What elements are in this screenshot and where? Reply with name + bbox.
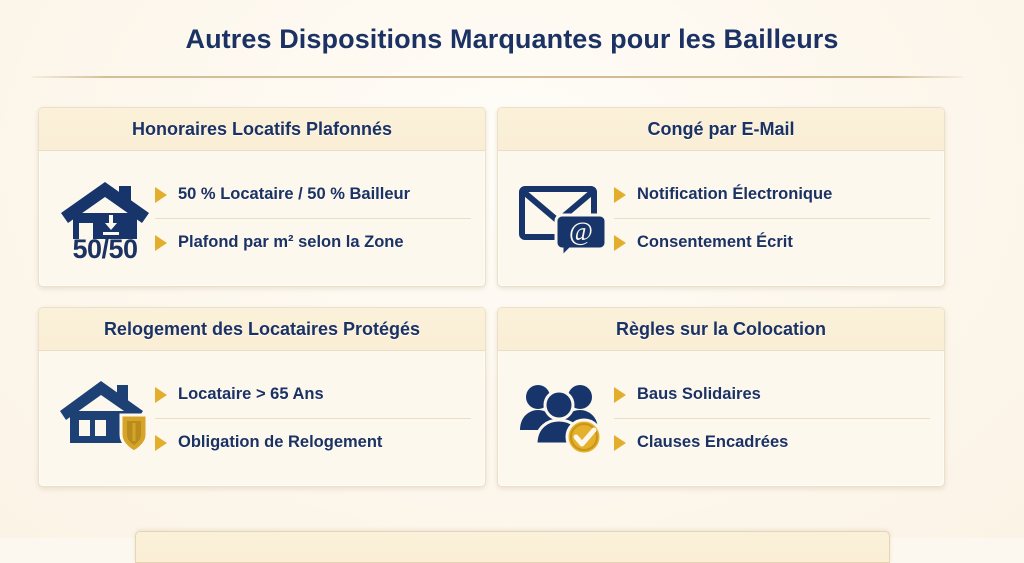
list-item-label: Locataire > 65 Ans	[178, 385, 324, 404]
card-body: Locataire > 65 Ans Obligation de Relogem…	[39, 351, 485, 486]
list-item-label: Consentement Écrit	[637, 233, 793, 252]
list-item[interactable]: Locataire > 65 Ans	[155, 371, 471, 418]
card-header: Congé par E-Mail	[498, 108, 944, 151]
arrow-right-icon	[155, 435, 167, 451]
card-rows: Locataire > 65 Ans Obligation de Relogem…	[155, 371, 471, 466]
people-check-icon	[516, 371, 612, 467]
icon-caption: 50/50	[57, 234, 153, 265]
card-title: Congé par E-Mail	[647, 119, 794, 140]
page-title: Autres Dispositions Marquantes pour les …	[0, 24, 1024, 55]
card-relogement-des-locataires-proteges[interactable]: Relogement des Locataires Protégés	[38, 307, 486, 487]
list-item[interactable]: Plafond par m² selon la Zone	[155, 218, 471, 266]
card-rows: Notification Électronique Consentement É…	[614, 171, 930, 266]
list-item[interactable]: Consentement Écrit	[614, 218, 930, 266]
arrow-right-icon	[155, 235, 167, 251]
list-item-label: 50 % Locataire / 50 % Bailleur	[178, 185, 410, 204]
list-item[interactable]: Obligation de Relogement	[155, 418, 471, 466]
card-title: Relogement des Locataires Protégés	[104, 319, 420, 340]
next-card-partial[interactable]	[135, 531, 890, 563]
list-item[interactable]: Notification Électronique	[614, 171, 930, 218]
list-item-label: Clauses Encadrées	[637, 433, 788, 452]
list-item[interactable]: Baus Solidaires	[614, 371, 930, 418]
card-conge-par-email[interactable]: Congé par E-Mail @ Notification Électron…	[497, 107, 945, 287]
list-item-label: Obligation de Relogement	[178, 433, 382, 452]
svg-text:@: @	[569, 217, 593, 246]
card-body: @ Notification Électronique Consentement…	[498, 151, 944, 286]
page-title-container: Autres Dispositions Marquantes pour les …	[0, 24, 1024, 55]
card-title: Règles sur la Colocation	[616, 319, 826, 340]
list-item[interactable]: 50 % Locataire / 50 % Bailleur	[155, 171, 471, 218]
list-item-label: Plafond par m² selon la Zone	[178, 233, 404, 252]
arrow-right-icon	[614, 187, 626, 203]
house-shield-icon	[57, 371, 153, 467]
list-item[interactable]: Clauses Encadrées	[614, 418, 930, 466]
envelope-at-icon: @	[516, 171, 612, 267]
card-rows: Baus Solidaires Clauses Encadrées	[614, 371, 930, 466]
arrow-right-icon	[614, 387, 626, 403]
list-item-label: Baus Solidaires	[637, 385, 761, 404]
title-divider	[31, 76, 963, 78]
card-header: Honoraires Locatifs Plafonnés	[39, 108, 485, 151]
house-split-icon: 50/50	[57, 171, 153, 267]
card-header: Relogement des Locataires Protégés	[39, 308, 485, 351]
arrow-right-icon	[614, 235, 626, 251]
arrow-right-icon	[155, 187, 167, 203]
card-body: 50/50 50 % Locataire / 50 % Bailleur Pla…	[39, 151, 485, 286]
card-header: Règles sur la Colocation	[498, 308, 944, 351]
card-honoraires-locatifs-plafonnes[interactable]: Honoraires Locatifs Plafonnés	[38, 107, 486, 287]
arrow-right-icon	[614, 435, 626, 451]
arrow-right-icon	[155, 387, 167, 403]
slide-canvas: Autres Dispositions Marquantes pour les …	[0, 0, 1024, 538]
list-item-label: Notification Électronique	[637, 185, 832, 204]
card-regles-sur-la-colocation[interactable]: Règles sur la Colocation	[497, 307, 945, 487]
card-body: Baus Solidaires Clauses Encadrées	[498, 351, 944, 486]
card-title: Honoraires Locatifs Plafonnés	[132, 119, 392, 140]
card-rows: 50 % Locataire / 50 % Bailleur Plafond p…	[155, 171, 471, 266]
